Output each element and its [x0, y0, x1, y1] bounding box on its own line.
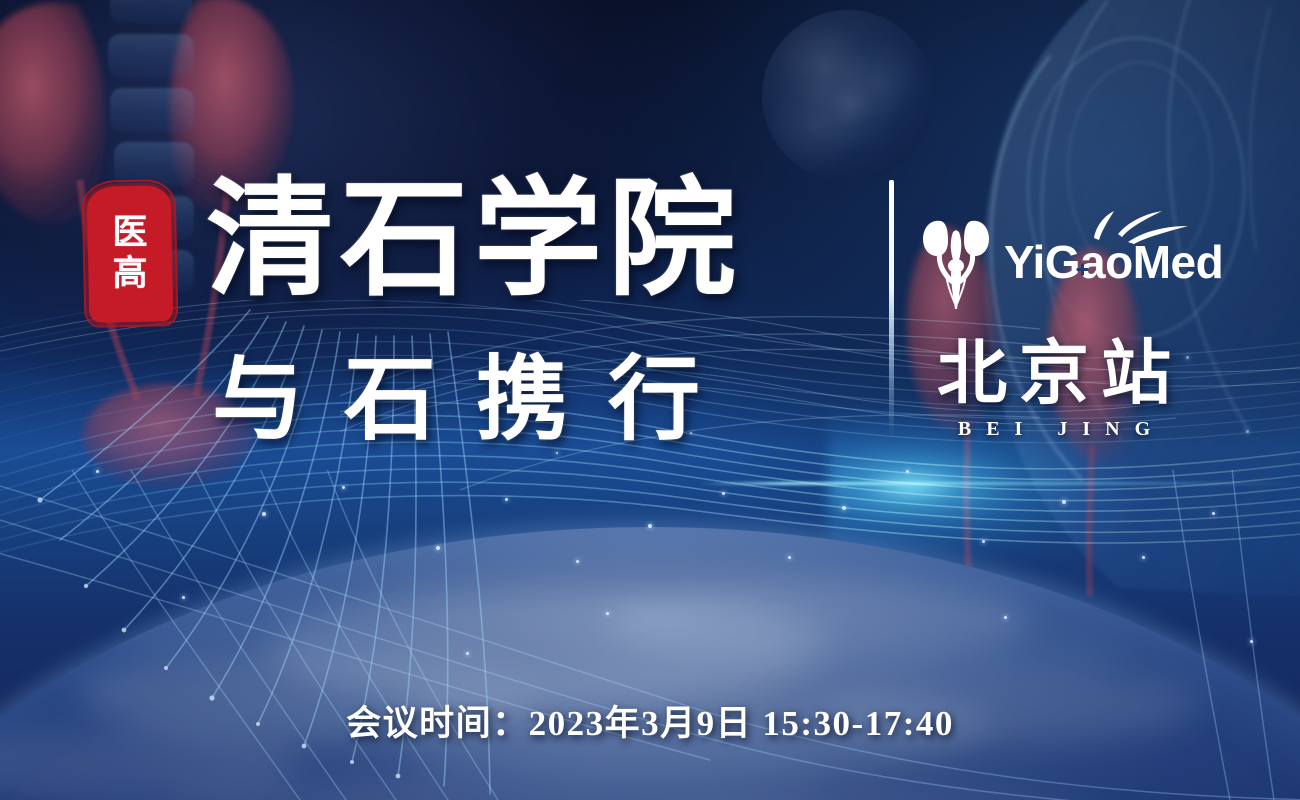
poster-content: 医 高 清石学院 与石携行	[0, 0, 1300, 800]
seal-characters: 医 高	[88, 186, 172, 322]
brand-name: YiGaoMed	[1004, 239, 1223, 285]
brand-lockup: YiGaoMed	[920, 214, 1223, 310]
swoosh-icon	[1084, 208, 1194, 244]
seal-stamp: 医 高	[88, 186, 172, 322]
meeting-time: 会议时间：2023年3月9日 15:30-17:40	[0, 706, 1300, 741]
seal-char-top: 医	[112, 215, 147, 252]
medical-cross-icon	[1075, 262, 1090, 277]
city-block: 北京站 BEI JING	[916, 340, 1192, 439]
page-subtitle: 与石携行	[212, 354, 740, 446]
seal-char-bottom: 高	[112, 256, 147, 293]
city-name-cn: 北京站	[916, 340, 1192, 410]
page-title: 清石学院	[206, 176, 742, 304]
city-name-en: BEI JING	[916, 419, 1192, 439]
vertical-divider	[889, 180, 894, 436]
conference-poster: 医 高 清石学院 与石携行	[0, 0, 1300, 800]
kidney-urinary-icon	[920, 214, 992, 310]
